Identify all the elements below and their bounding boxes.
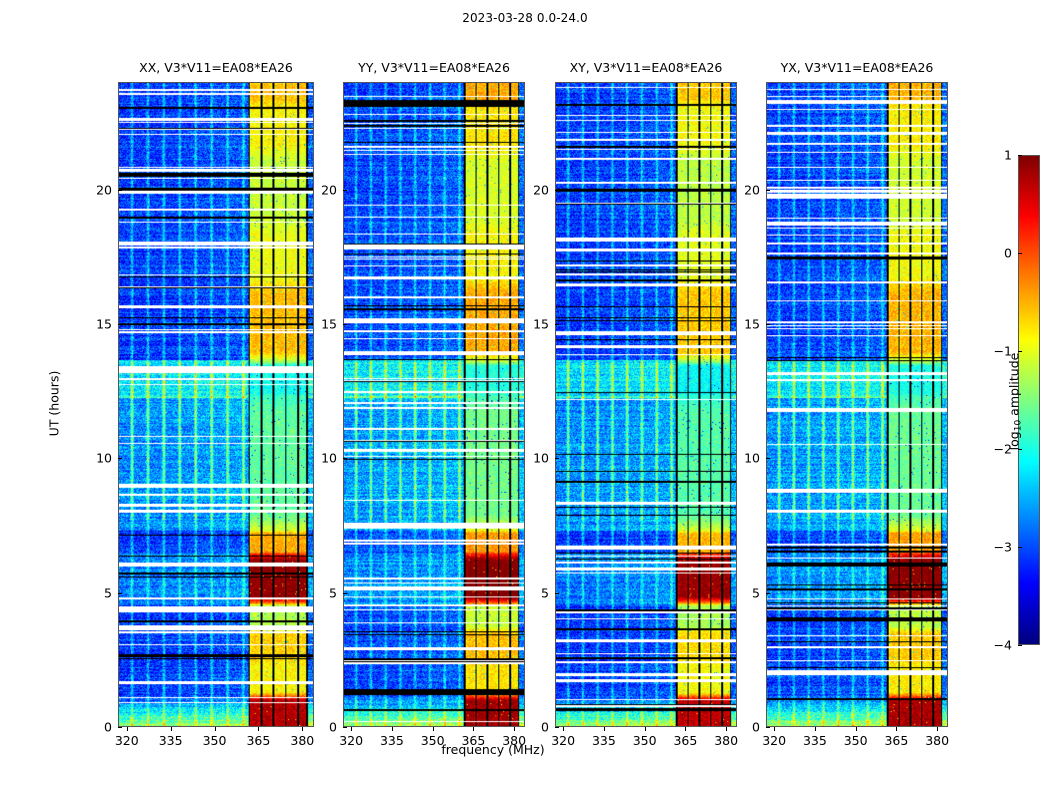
y-axis-label: UT (hours) bbox=[47, 344, 62, 464]
panel-xx-title: XX, V3*V11=EA08*EA26 bbox=[118, 60, 314, 75]
x-tick-label: 365 bbox=[884, 733, 908, 748]
x-tick-mark bbox=[937, 727, 938, 731]
y-tick-label: 20 bbox=[301, 182, 337, 197]
y-tick-mark bbox=[766, 324, 770, 325]
x-tick-mark bbox=[433, 727, 434, 731]
y-tick-label: 20 bbox=[724, 182, 760, 197]
colorbar-tick-mark bbox=[1018, 155, 1022, 156]
y-tick-label: 0 bbox=[513, 720, 549, 735]
x-tick-mark bbox=[351, 727, 352, 731]
y-tick-mark bbox=[118, 727, 122, 728]
colorbar-label: log10 amplitude bbox=[1007, 302, 1022, 502]
y-tick-mark bbox=[343, 593, 347, 594]
x-tick-label: 350 bbox=[844, 733, 868, 748]
panel-yx[interactable]: YX, V3*V11=EA08*EA26 bbox=[766, 82, 948, 727]
x-tick-mark bbox=[815, 727, 816, 731]
x-tick-mark bbox=[645, 727, 646, 731]
x-axis-label: frequency (MHz) bbox=[383, 742, 603, 757]
y-tick-label: 5 bbox=[724, 585, 760, 600]
y-tick-label: 20 bbox=[513, 182, 549, 197]
y-tick-mark bbox=[766, 727, 770, 728]
y-tick-mark bbox=[118, 324, 122, 325]
y-tick-mark bbox=[343, 324, 347, 325]
panel-xy-title: XY, V3*V11=EA08*EA26 bbox=[555, 60, 737, 75]
y-tick-mark bbox=[555, 593, 559, 594]
x-tick-mark bbox=[258, 727, 259, 731]
x-tick-mark bbox=[685, 727, 686, 731]
x-tick-label: 320 bbox=[339, 733, 363, 748]
y-tick-label: 15 bbox=[724, 316, 760, 331]
x-tick-label: 365 bbox=[246, 733, 270, 748]
y-tick-mark bbox=[343, 458, 347, 459]
y-tick-mark bbox=[766, 190, 770, 191]
colorbar-label-suffix: amplitude bbox=[1007, 353, 1022, 420]
panel-xx-image[interactable] bbox=[118, 82, 314, 727]
y-tick-mark bbox=[555, 190, 559, 191]
x-tick-label: 365 bbox=[673, 733, 697, 748]
y-tick-label: 5 bbox=[513, 585, 549, 600]
y-tick-label: 15 bbox=[513, 316, 549, 331]
y-tick-mark bbox=[118, 190, 122, 191]
panel-yy-title: YY, V3*V11=EA08*EA26 bbox=[343, 60, 525, 75]
x-tick-mark bbox=[563, 727, 564, 731]
y-tick-label: 0 bbox=[301, 720, 337, 735]
panel-yx-image[interactable] bbox=[766, 82, 948, 727]
panel-yy-image[interactable] bbox=[343, 82, 525, 727]
colorbar-tick-label: −4 bbox=[978, 638, 1012, 653]
x-tick-label: 350 bbox=[633, 733, 657, 748]
x-tick-mark bbox=[896, 727, 897, 731]
y-tick-mark bbox=[118, 593, 122, 594]
y-tick-label: 10 bbox=[301, 451, 337, 466]
y-tick-mark bbox=[343, 190, 347, 191]
x-tick-mark bbox=[856, 727, 857, 731]
y-tick-mark bbox=[343, 727, 347, 728]
x-tick-label: 380 bbox=[714, 733, 738, 748]
x-tick-label: 335 bbox=[803, 733, 827, 748]
x-tick-mark bbox=[392, 727, 393, 731]
x-tick-mark bbox=[215, 727, 216, 731]
panel-xy[interactable]: XY, V3*V11=EA08*EA26 bbox=[555, 82, 737, 727]
x-tick-label: 380 bbox=[290, 733, 314, 748]
y-tick-mark bbox=[555, 727, 559, 728]
colorbar-tick-mark bbox=[1018, 645, 1022, 646]
colorbar-tick-label: −3 bbox=[978, 540, 1012, 555]
y-tick-mark bbox=[766, 458, 770, 459]
y-tick-mark bbox=[766, 593, 770, 594]
figure-suptitle: 2023-03-28 0.0-24.0 bbox=[0, 11, 1050, 25]
y-tick-label: 0 bbox=[76, 720, 112, 735]
colorbar-tick-mark bbox=[1018, 253, 1022, 254]
panel-xy-image[interactable] bbox=[555, 82, 737, 727]
y-tick-label: 5 bbox=[76, 585, 112, 600]
x-tick-mark bbox=[774, 727, 775, 731]
y-tick-label: 10 bbox=[724, 451, 760, 466]
y-tick-label: 10 bbox=[76, 451, 112, 466]
y-tick-mark bbox=[555, 324, 559, 325]
y-tick-label: 0 bbox=[724, 720, 760, 735]
x-tick-mark bbox=[473, 727, 474, 731]
x-tick-mark bbox=[127, 727, 128, 731]
panel-yx-title: YX, V3*V11=EA08*EA26 bbox=[766, 60, 948, 75]
y-tick-label: 20 bbox=[76, 182, 112, 197]
colorbar-label-sub: 10 bbox=[1014, 420, 1024, 431]
y-tick-mark bbox=[118, 458, 122, 459]
colorbar-tick-label: 0 bbox=[978, 246, 1012, 261]
x-tick-label: 320 bbox=[762, 733, 786, 748]
y-tick-label: 15 bbox=[301, 316, 337, 331]
figure-canvas: 2023-03-28 0.0-24.0 XX, V3*V11=EA08*EA26… bbox=[0, 0, 1050, 800]
colorbar-tick-mark bbox=[1018, 547, 1022, 548]
x-tick-label: 350 bbox=[203, 733, 227, 748]
y-tick-label: 15 bbox=[76, 316, 112, 331]
x-tick-label: 335 bbox=[159, 733, 183, 748]
y-tick-mark bbox=[555, 458, 559, 459]
x-tick-label: 380 bbox=[925, 733, 949, 748]
panel-xx[interactable]: XX, V3*V11=EA08*EA26 bbox=[118, 82, 314, 727]
colorbar-tick-label: 1 bbox=[978, 148, 1012, 163]
panel-yy[interactable]: YY, V3*V11=EA08*EA26 bbox=[343, 82, 525, 727]
x-tick-label: 320 bbox=[115, 733, 139, 748]
y-tick-label: 5 bbox=[301, 585, 337, 600]
colorbar-label-prefix: log bbox=[1007, 431, 1022, 450]
y-tick-label: 10 bbox=[513, 451, 549, 466]
x-tick-mark bbox=[604, 727, 605, 731]
x-tick-mark bbox=[171, 727, 172, 731]
